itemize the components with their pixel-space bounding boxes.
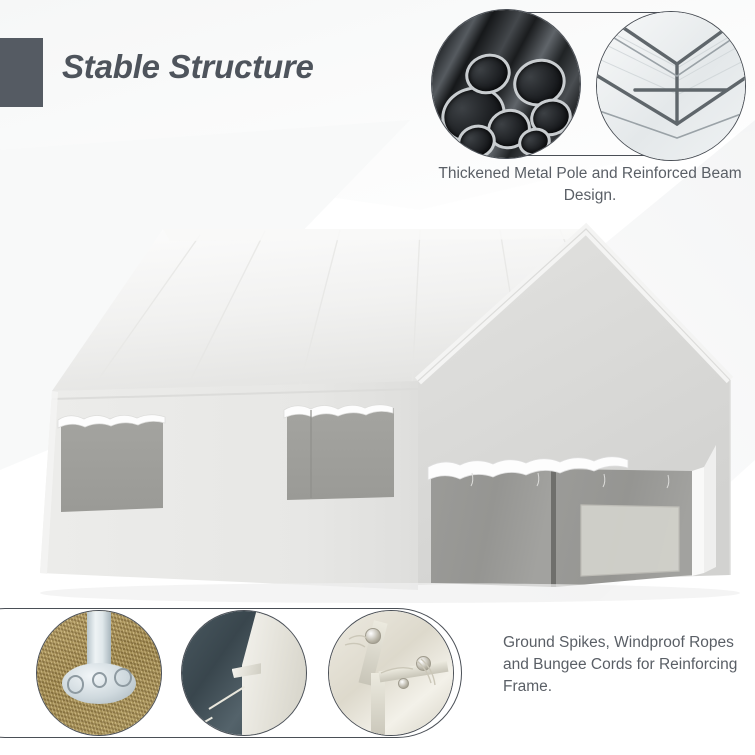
front-door-left xyxy=(431,468,552,587)
front-door-window xyxy=(581,505,679,576)
bottom-callout-caption: Ground Spikes, Windproof Ropes and Bunge… xyxy=(503,632,743,698)
carport-canopy-tent xyxy=(0,195,755,625)
bungee-cord-photo xyxy=(328,610,454,736)
ground-spike-photo xyxy=(36,610,162,736)
side-window-right xyxy=(287,408,394,500)
door-zipper-seam xyxy=(551,468,556,587)
corner-frame-post xyxy=(692,467,704,576)
top-callout-caption: Thickened Metal Pole and Reinforced Beam… xyxy=(437,163,743,207)
windproof-rope-photo xyxy=(181,610,307,736)
side-window-left xyxy=(61,417,163,512)
metal-pipes-photo xyxy=(431,9,581,159)
title-accent-block xyxy=(0,38,43,107)
product-feature-image: Stable Structure xyxy=(0,0,755,755)
page-title: Stable Structure xyxy=(62,48,314,86)
reinforced-beam-photo xyxy=(596,11,746,161)
